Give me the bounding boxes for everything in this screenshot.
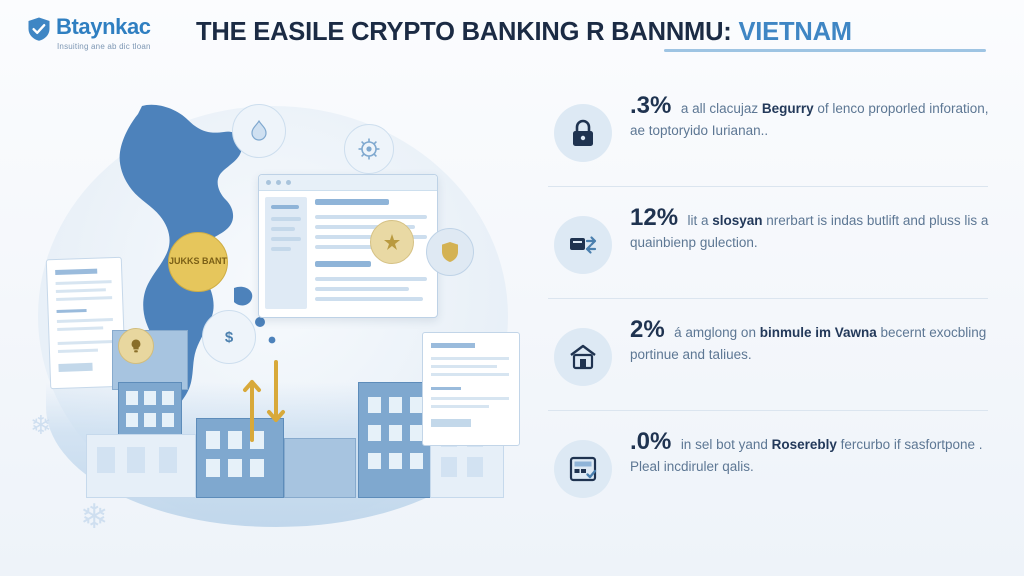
stat-row[interactable]: 2% á amglong on binmule im Vawna becernt… [548,310,1000,414]
illustration: $ JUKKS BANT ❄ ❄ [26,82,534,552]
stats-list: .3% a all clacujaz Begurry of lenco prop… [548,86,1000,550]
stat-text-a: in sel bot yand [681,437,772,452]
logo-text: Btaynkac [56,14,151,40]
separator [548,410,988,411]
data-panel [422,332,520,446]
stat-percent: 2% [630,316,665,343]
page-title-highlight: VIETNAM [738,18,851,46]
amber-stamp-label: JUKKS BANT [169,257,227,266]
padlock-icon [554,104,612,162]
stat-percent: .3% [630,92,671,119]
stat-text-bold: Begurry [762,101,814,116]
separator [548,298,988,299]
stat-row[interactable]: .0% in sel bot yand Roserebly fercurbo i… [548,422,1000,526]
page-title-main: THE EASILE CRYPTO BANKING R BANNMU: [196,18,738,46]
snowflake-icon: ❄ [30,412,52,438]
stat-body: 2% á amglong on binmule im Vawna becernt… [630,316,998,366]
stat-row[interactable]: 12% lit a slosyan nrerbart is indas butl… [548,198,1000,302]
shield-token-icon [426,228,474,276]
stat-body: .3% a all clacujaz Begurry of lenco prop… [630,92,998,142]
stat-body: 12% lit a slosyan nrerbart is indas butl… [630,204,998,254]
stat-text-a: a all clacujaz [681,101,762,116]
separator [548,186,988,187]
bank-transfer-icon [554,216,612,274]
stat-text-bold: Roserebly [772,437,837,452]
header: Btaynkac Insuiting ane ab dic tloan THE … [0,0,1024,78]
snowflake-icon: ❄ [80,500,109,534]
gear-token-icon [344,124,394,174]
lightbulb-icon [118,328,154,364]
building-block [284,438,356,498]
home-bank-icon [554,328,612,386]
flame-token-icon [232,104,286,158]
title-underline [664,49,986,52]
stat-body: .0% in sel bot yand Roserebly fercurbo i… [630,428,998,478]
stat-text-bold: slosyan [712,213,762,228]
stat-percent: .0% [630,428,671,455]
stat-text-b: nrerbart is indas butlift and pluss lis … [630,213,988,250]
browser-titlebar [259,175,437,191]
logo[interactable]: Btaynkac Insuiting ane ab dic tloan [26,12,176,64]
amber-stamp-icon: JUKKS BANT [168,232,228,292]
page-title: THE EASILE CRYPTO BANKING R BANNMU: VIET… [196,18,1006,47]
stat-row[interactable]: .3% a all clacujaz Begurry of lenco prop… [548,86,1000,190]
browser-sidebar [265,197,307,309]
stat-text-a: á amglong on [674,325,760,340]
checklist-calculator-icon [554,440,612,498]
building-block [118,382,182,440]
stat-percent: 12% [630,204,678,231]
stat-text-a: lit a [688,213,713,228]
bitcoin-arrow-icon [242,356,288,446]
building-block [86,434,196,498]
stat-text-bold: binmule im Vawna [760,325,877,340]
shield-check-icon [26,16,52,42]
logo-tagline: Insuiting ane ab dic tloan [57,42,151,51]
infographic-page: Btaynkac Insuiting ane ab dic tloan THE … [0,0,1024,576]
coin-token-icon [370,220,414,264]
dollar-token-label: $ [225,329,233,346]
